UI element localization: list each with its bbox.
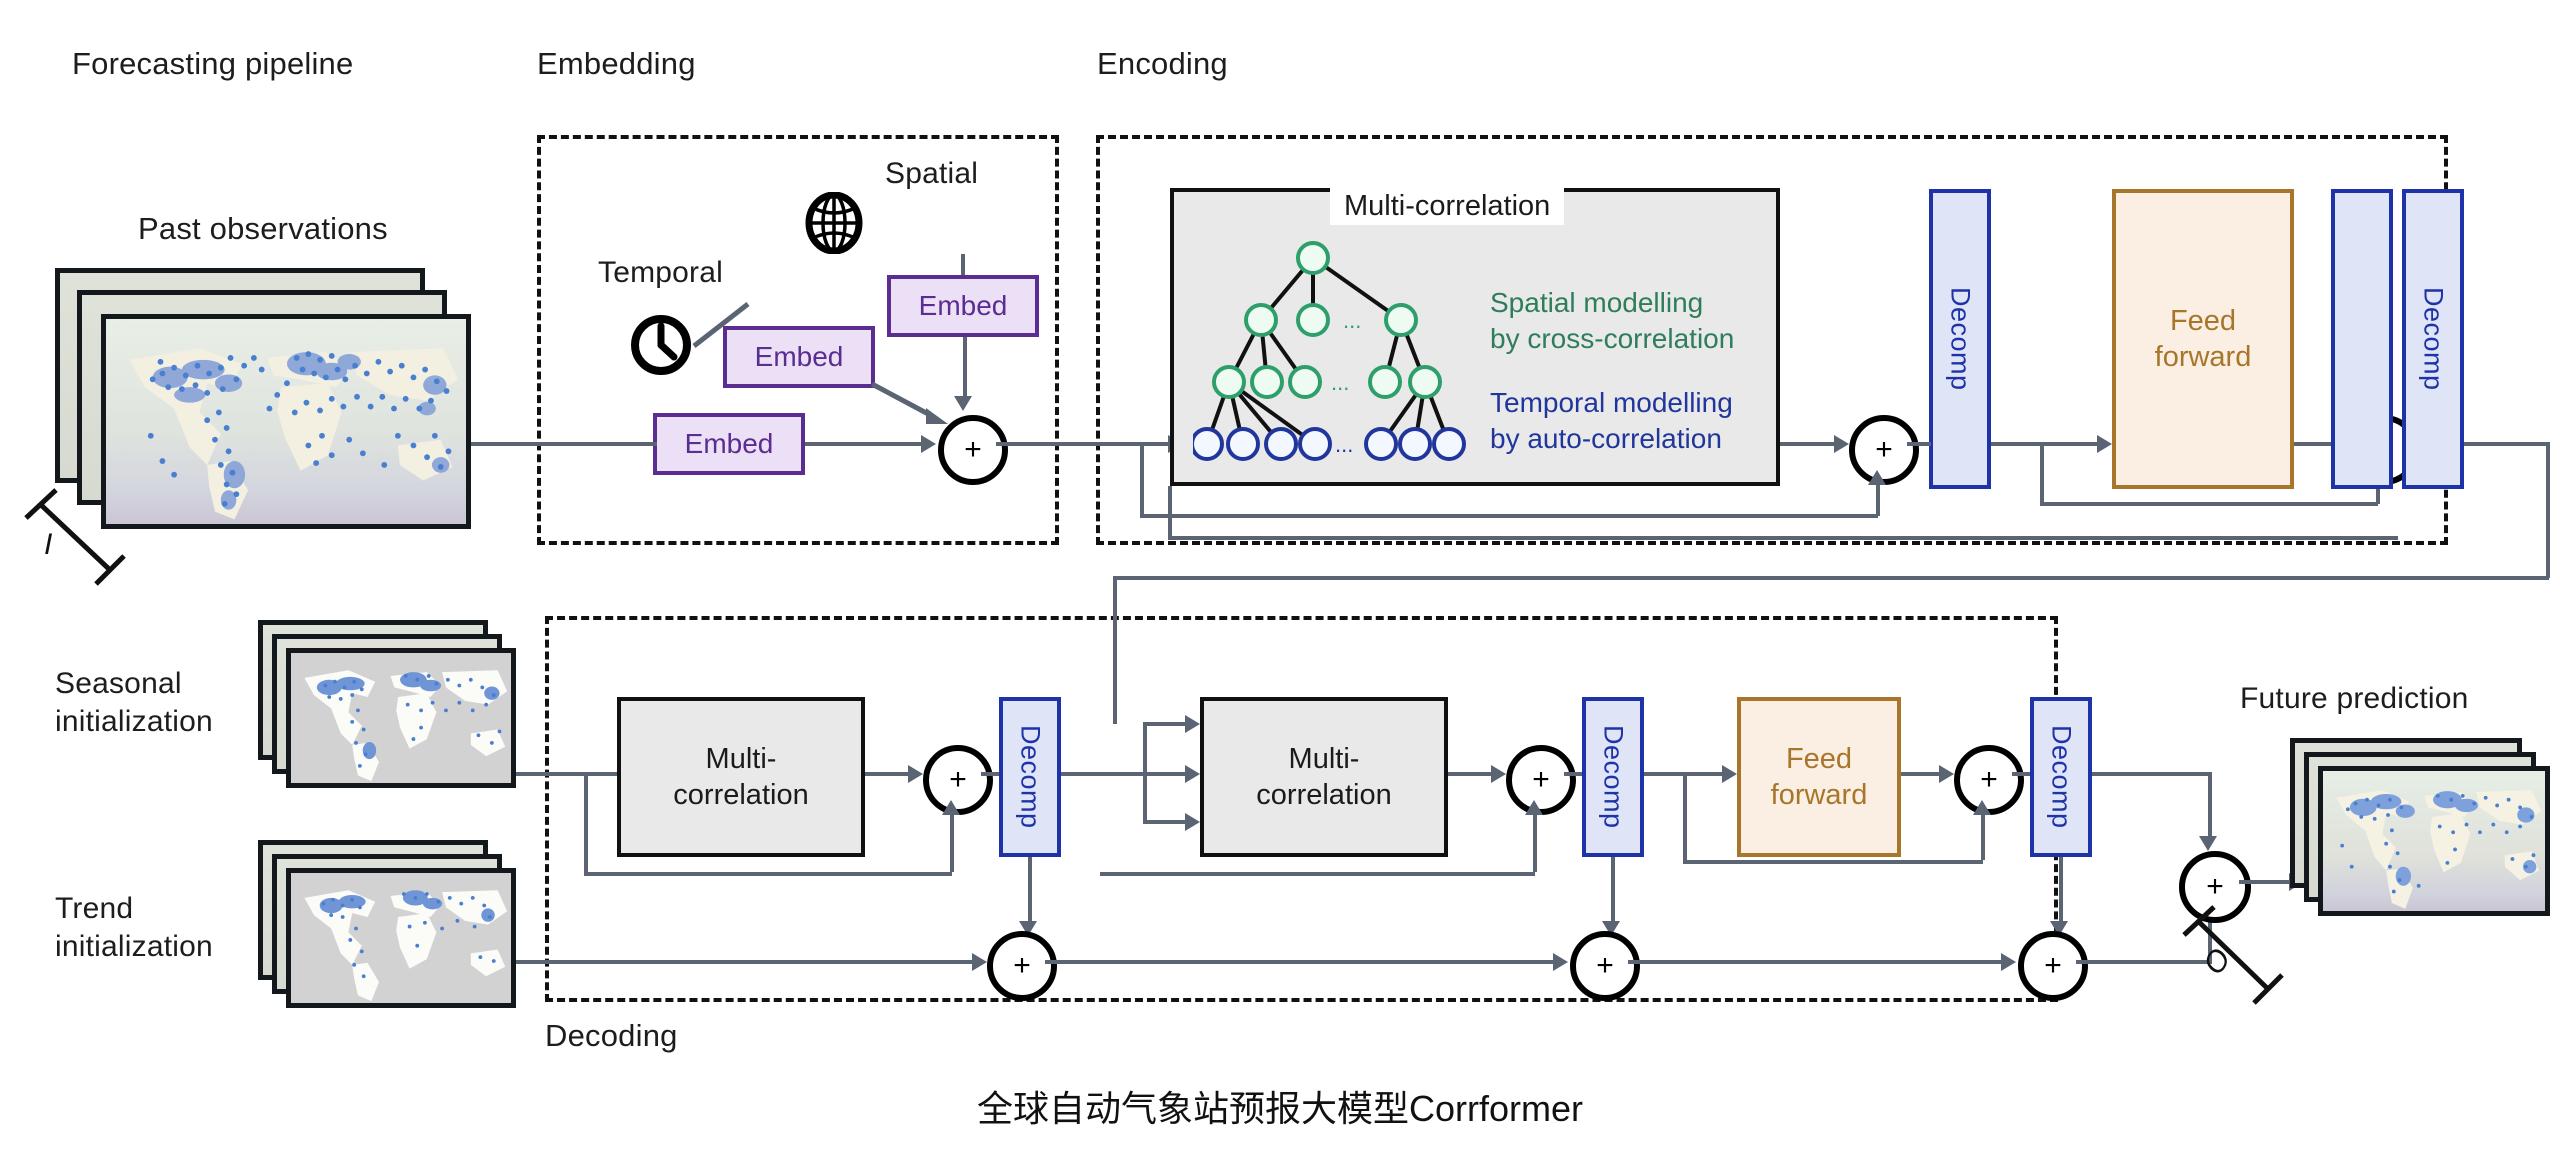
connector-ff-to-sum3 (1901, 772, 1943, 776)
globe-icon (803, 192, 865, 254)
arrow-trend-in-1 (972, 953, 987, 971)
plus-glyph: + (949, 765, 967, 795)
decomp-label: Decomp (2418, 287, 2449, 391)
plus-glyph: + (1596, 951, 1614, 981)
decoder-multi-correlation-2[interactable]: Multi- correlation (1200, 697, 1448, 857)
arrow-residual-dec1 (942, 800, 960, 815)
temporal-label: Temporal (598, 254, 723, 292)
connector-seasonal-to-decoder (516, 772, 631, 776)
connector-mc2-to-sum (1448, 772, 1496, 776)
feed-forward-label: Feed forward (1771, 741, 1868, 814)
decoder-decomp-2[interactable]: Decomp (1582, 697, 1644, 857)
enc-out-down (2546, 442, 2550, 578)
connector-clock-to-embed (690, 300, 770, 350)
trend-sum-node-1: + (987, 931, 1057, 1001)
mc-line1: Multi- (1289, 743, 1360, 775)
plus-glyph: + (964, 435, 982, 465)
section-label-decoding: Decoding (545, 1017, 678, 1056)
encoder-feed-forward[interactable]: Feed forward (2112, 189, 2294, 489)
branch-fan-top (1143, 722, 1189, 726)
residual-dec3-across (1683, 860, 1983, 864)
ff-line2: forward (2155, 341, 2252, 373)
seasonal-out-down (2208, 772, 2212, 844)
embed-label: Embed (685, 428, 774, 460)
residual-enc2-across (2040, 502, 2378, 506)
residual-dec1-across (584, 872, 952, 876)
ff-line1: Feed (2170, 305, 2236, 337)
plus-glyph: + (1875, 435, 1893, 465)
residual-dec1-up (950, 808, 954, 872)
temporal-modelling-line1: Temporal modelling (1490, 385, 1733, 421)
decompA-trend-down (1028, 857, 1032, 929)
world-map-graphic-small (291, 653, 511, 787)
arrow-trend-in-3 (2001, 953, 2016, 971)
decomp-label: Decomp (1015, 725, 1046, 829)
connector-decomp1-to-ff (1991, 442, 2101, 446)
section-label-forecasting-pipeline: Forecasting pipeline (72, 45, 353, 84)
connector-spatial-embed-to-sum (963, 337, 967, 399)
arrow-residual-dec2 (1525, 800, 1543, 815)
feed-forward-label: Feed forward (2155, 303, 2252, 376)
arrow-fan-top (1185, 715, 1200, 733)
spatial-modelling-line1: Spatial modelling (1490, 285, 1734, 321)
connector-temporal-embed-to-sum (870, 380, 960, 432)
residual-enc1-across (1140, 514, 1878, 518)
residual-dec1-down (584, 772, 588, 874)
section-label-embedding: Embedding (537, 45, 696, 84)
trend-line2: initialization (55, 928, 213, 966)
mc-line2: correlation (673, 779, 808, 811)
connector-globe-to-embed (961, 254, 965, 275)
map-card-front (2318, 766, 2550, 916)
residual-enc1-down (1140, 442, 1144, 516)
past-observations-label: Past observations (138, 210, 388, 249)
plus-glyph: + (1980, 765, 1998, 795)
residual-dec3-up (1981, 808, 1985, 860)
decomp-label: Decomp (1945, 287, 1976, 391)
input-length-dimension (18, 478, 138, 588)
connector-trend-in (516, 960, 976, 964)
spatial-label: Spatial (885, 155, 978, 193)
plus-glyph: + (1013, 951, 1031, 981)
clock-icon (629, 313, 693, 377)
enc-out-right (2464, 442, 2550, 446)
temporal-modelling-text: Temporal modelling by auto-correlation (1490, 385, 1733, 458)
seasonal-line1: Seasonal (55, 665, 213, 703)
enc-out-back-left (1113, 576, 2549, 580)
figure-caption: 全球自动气象站预报大模型Corrformer (0, 1080, 2560, 1132)
world-map-graphic (106, 319, 466, 528)
decoder-decomp-1[interactable]: Decomp (999, 697, 1061, 857)
arrow-mc1-to-sum (908, 765, 923, 783)
seasonal-out-right (2092, 772, 2212, 776)
residual-enc2-down (2040, 442, 2044, 504)
decomp-label: Decomp (2046, 725, 2077, 829)
input-length-label: I (44, 528, 52, 562)
encoder-decomp-1[interactable]: Decomp (1929, 189, 1991, 489)
branch-fan-bot (1143, 820, 1189, 824)
decompB-trend-down (1611, 857, 1615, 929)
map-card-front (286, 648, 516, 788)
connector-final-to-output (2239, 880, 2293, 884)
residual-dec2-across (1100, 872, 1535, 876)
arrow-mc-to-sum1 (1834, 435, 1849, 453)
arrow-trend-in-2 (1553, 953, 1568, 971)
mc-label: Multi- correlation (673, 741, 808, 814)
trend-sum-node-2: + (1570, 931, 1640, 1001)
spatial-modelling-line2: by cross-correlation (1490, 321, 1734, 357)
arrow-seasonal-out (2199, 836, 2217, 851)
trend-sum-node-3: + (2018, 931, 2088, 1001)
future-prediction-label: Future prediction (2240, 680, 2469, 718)
plus-glyph: + (1532, 765, 1550, 795)
multi-correlation-panel-title: Multi-correlation (1330, 188, 1564, 225)
connector-embed-to-sum (805, 442, 923, 446)
mc-label: Multi- correlation (1256, 741, 1391, 814)
decoder-decomp-3[interactable]: Decomp (2030, 697, 2092, 857)
connector-past-to-embed (471, 442, 657, 446)
embed-label: Embed (919, 290, 1008, 322)
arrow-embed-to-sum (921, 435, 936, 453)
world-map-graphic-small (291, 873, 511, 1007)
svg-text:...: ... (1335, 432, 1353, 457)
arrow-decompB-to-ff (1722, 765, 1737, 783)
mc-line2: correlation (1256, 779, 1391, 811)
section-label-encoding: Encoding (1097, 45, 1228, 84)
connector-trend-3 (1628, 960, 2003, 964)
plus-glyph: + (2044, 951, 2062, 981)
map-card-front (101, 314, 471, 529)
decomp-label: Decomp (1598, 725, 1629, 829)
residual-dec2-up (1533, 808, 1537, 872)
embed-box-spatial[interactable]: Embed (887, 275, 1039, 337)
seasonal-line2: initialization (55, 703, 213, 741)
arrow-mc2-to-sum (1491, 765, 1506, 783)
mc-line1: Multi- (706, 743, 777, 775)
residual-dec3-down (1683, 772, 1687, 862)
temporal-modelling-line2: by auto-correlation (1490, 421, 1733, 457)
plus-glyph: + (2206, 872, 2224, 902)
branch-fan-mid (1143, 772, 1189, 776)
enc-feedback-down (1168, 486, 1172, 538)
arrow-fan-bot (1185, 813, 1200, 831)
svg-text:...: ... (1331, 370, 1349, 395)
enc-out-down2 (1113, 576, 1117, 724)
spatial-modelling-text: Spatial modelling by cross-correlation (1490, 285, 1734, 358)
correlation-tree-graphic: ...... ... (1193, 228, 1483, 478)
encoder-decomp-2[interactable] (2331, 189, 2393, 489)
map-card-front (286, 868, 516, 1008)
decoder-feed-forward[interactable]: Feed forward (1737, 697, 1901, 857)
encoder-decomp-2b[interactable]: Decomp (2402, 189, 2464, 489)
arrow-fan-mid (1185, 765, 1200, 783)
arrow-decomp1-to-ff (2097, 435, 2112, 453)
connector-mc1-to-sum (865, 772, 913, 776)
trend-line1: Trend (55, 890, 213, 928)
ff-line1: Feed (1786, 743, 1852, 775)
embed-box-series[interactable]: Embed (653, 413, 805, 475)
connector-trend-2 (1045, 960, 1555, 964)
seasonal-initialization-label: Seasonal initialization (55, 665, 213, 740)
connector-sum1-to-decomp1 (1907, 442, 1931, 446)
trend-initialization-label: Trend initialization (55, 890, 213, 965)
decoder-multi-correlation-1[interactable]: Multi- correlation (617, 697, 865, 857)
enc-feedback-across (1168, 536, 2398, 540)
arrow-residual-dec3 (1973, 800, 1991, 815)
world-map-graphic-output (2323, 771, 2545, 915)
arrow-residual-enc1 (1868, 470, 1886, 485)
connector-decompA-out (1061, 772, 1145, 776)
ff-line2: forward (1771, 779, 1868, 811)
connector-mc-to-sum1 (1780, 442, 1838, 446)
decompC-trend-down (2059, 857, 2063, 929)
arrow-ff-to-sum3 (1939, 765, 1954, 783)
svg-text:...: ... (1343, 308, 1361, 333)
